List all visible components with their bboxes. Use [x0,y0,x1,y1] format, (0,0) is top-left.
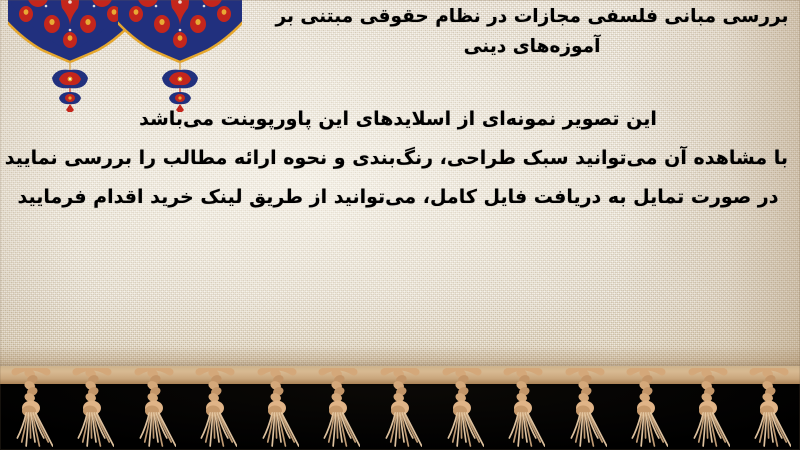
tassel-fringe-group [0,368,800,450]
tassel [9,368,53,450]
tassel [255,368,299,450]
page-title-line-2: آموزه‌های دینی [272,32,792,62]
tassel [686,368,730,450]
page-title-line-1: بررسی مبانی فلسفی مجازات در نظام حقوقی م… [272,2,792,32]
tassel [316,368,360,450]
tassel [193,368,237,450]
page-title: بررسی مبانی فلسفی مجازات در نظام حقوقی م… [272,2,792,62]
tassel [624,368,668,450]
tassel [747,368,791,450]
tassel [132,368,176,450]
tassel [501,368,545,450]
tassel [440,368,484,450]
body-line-3: در صورت تمایل به دریافت فایل کامل، می‌تو… [8,188,788,207]
presentation-slide: بررسی مبانی فلسفی مجازات در نظام حقوقی م… [0,0,800,450]
tassel [563,368,607,450]
body-line-2: با مشاهده آن می‌توانید سبک طراحی، رنگ‌بن… [8,149,788,168]
slide-body: این تصویر نمونه‌ای از اسلایدهای این پاور… [0,110,800,207]
body-line-1: این تصویر نمونه‌ای از اسلایدهای این پاور… [8,110,788,129]
tassel [70,368,114,450]
tassel [378,368,422,450]
